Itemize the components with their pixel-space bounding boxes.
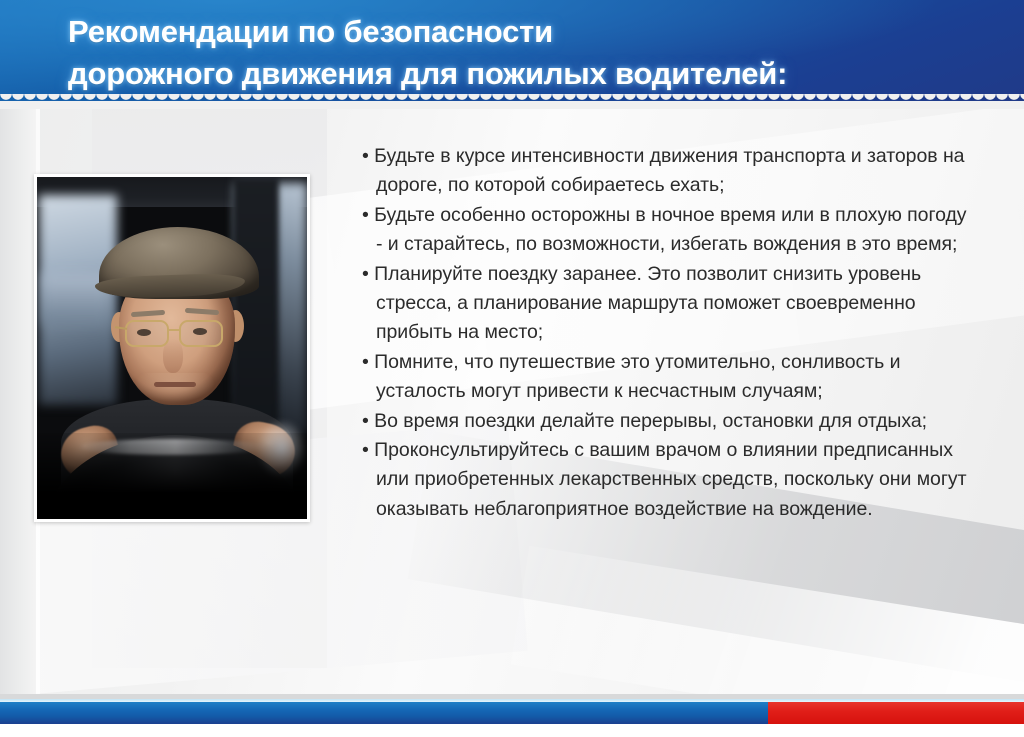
driver-glasses-left-lens-icon <box>125 320 169 347</box>
photo-vignette <box>37 433 307 519</box>
list-item: • Проконсультируйтесь с вашим врачом о в… <box>362 436 970 524</box>
list-item: • Будьте в курсе интенсивности движения … <box>362 142 970 201</box>
footer-red-bar <box>768 702 1024 724</box>
slide-title-block: Рекомендации по безопасности дорожного д… <box>68 12 998 93</box>
list-item: • Будьте особенно осторожны в ночное вре… <box>362 201 970 260</box>
driver-mouth-icon <box>154 382 196 387</box>
photo-frame-elderly-driver <box>34 174 310 522</box>
footer-white-strip <box>0 724 1024 737</box>
header-scallop-edge <box>0 93 1024 106</box>
photo-elderly-driver-image <box>37 177 307 519</box>
driver-chin-icon <box>135 373 215 409</box>
footer-blue-bar <box>0 702 768 724</box>
driver-glasses-right-lens-icon <box>179 320 223 347</box>
list-item: • Планируйте поездку заранее. Это позвол… <box>362 260 970 348</box>
recommendations-list: • Будьте в курсе интенсивности движения … <box>362 142 970 524</box>
slide-title-line-1: Рекомендации по безопасности <box>68 12 998 51</box>
list-item: • Во время поездки делайте перерывы, ост… <box>362 407 970 436</box>
driver-glasses-bridge-icon <box>168 329 180 331</box>
presentation-slide: Рекомендации по безопасности дорожного д… <box>0 0 1024 737</box>
slide-header-banner: Рекомендации по безопасности дорожного д… <box>0 0 1024 101</box>
slide-title-line-2: дорожного движения для пожилых водителей… <box>68 54 998 93</box>
list-item: • Помните, что путешествие это утомитель… <box>362 348 970 407</box>
